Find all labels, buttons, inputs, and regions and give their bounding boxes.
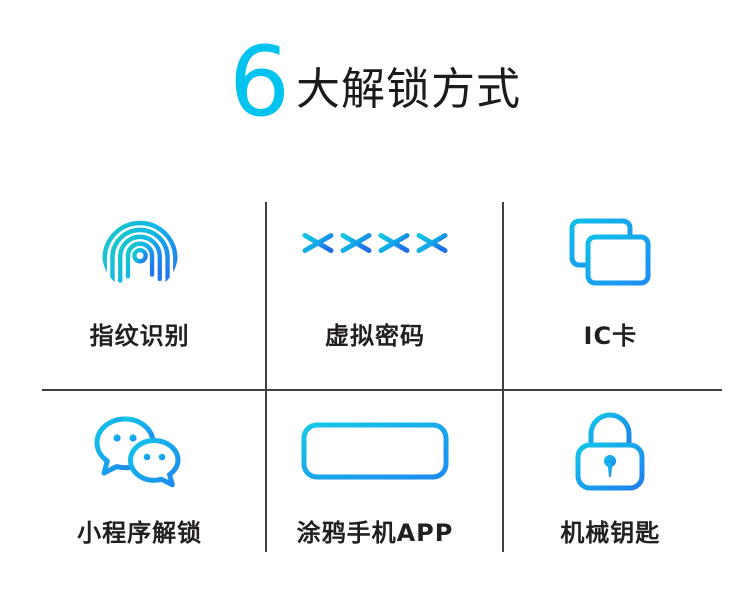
feature-cell-miniprogram[interactable]: 小程序解锁 <box>22 377 257 574</box>
padlock-icon <box>570 403 650 499</box>
page-title: 6 大解锁方式 <box>0 22 750 118</box>
title-number: 6 <box>229 41 288 124</box>
app-panel-icon <box>300 403 450 499</box>
ic-card-icon <box>566 206 654 302</box>
feature-label-password: 虚拟密码 <box>325 316 425 351</box>
feature-grid: 指纹识别 <box>22 180 728 574</box>
password-asterisks-icon <box>300 206 450 302</box>
unlock-methods-page: 6 大解锁方式 <box>0 0 750 594</box>
feature-label-mechanical-key: 机械钥匙 <box>560 513 660 548</box>
feature-cell-ic-card[interactable]: IC卡 <box>493 180 728 377</box>
title-text: 大解锁方式 <box>296 68 521 112</box>
feature-cell-mechanical-key[interactable]: 机械钥匙 <box>493 377 728 574</box>
feature-cell-password[interactable]: 虚拟密码 <box>257 180 492 377</box>
feature-cell-app[interactable]: 涂鸦手机APP <box>257 377 492 574</box>
feature-cell-fingerprint[interactable]: 指纹识别 <box>22 180 257 377</box>
feature-label-ic-card: IC卡 <box>584 316 638 351</box>
fingerprint-icon <box>97 206 183 302</box>
feature-label-miniprogram: 小程序解锁 <box>77 513 202 548</box>
wechat-bubbles-icon <box>92 403 188 499</box>
feature-label-app: 涂鸦手机APP <box>297 513 454 548</box>
feature-label-fingerprint: 指纹识别 <box>90 316 190 351</box>
